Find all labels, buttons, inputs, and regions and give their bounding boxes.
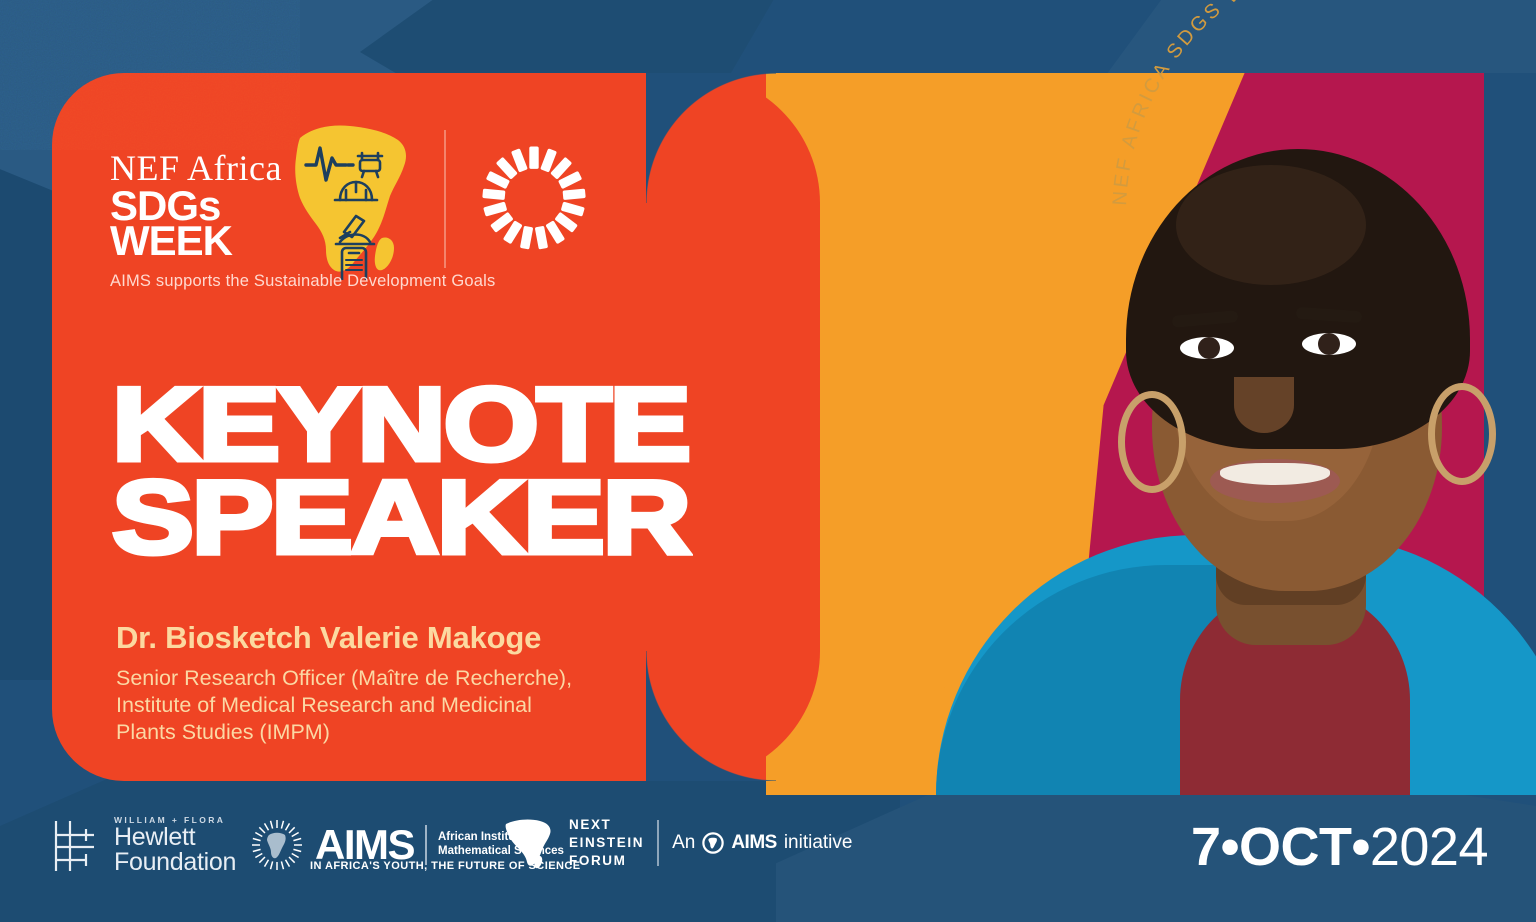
speaker-title-line-2: Institute of Medical Research and Medici… xyxy=(116,692,726,719)
sdg-support-tagline: AIMS supports the Sustainable Developmen… xyxy=(110,272,495,291)
page-title: KEYNOTE SPEAKER xyxy=(112,382,601,563)
nef-africa-silhouette-icon xyxy=(500,816,556,870)
logo-divider xyxy=(444,130,446,268)
speaker-portrait xyxy=(966,91,1536,795)
aims-initiative-label: An AIMS initiative xyxy=(672,832,852,854)
hewlett-foundation-logo-icon xyxy=(48,817,100,875)
portrait-nose xyxy=(1234,377,1294,433)
speaker-title: Senior Research Officer (Maître de Reche… xyxy=(116,665,726,746)
headline-line-2: SPEAKER xyxy=(112,475,689,562)
portrait-earring xyxy=(1428,383,1496,485)
nef-line-1: NEXT xyxy=(569,816,644,834)
portrait-hair-highlight xyxy=(1176,165,1366,285)
aims-wordmark: AIMS xyxy=(315,826,414,864)
nef-wordmark: NEF Africa SDGs WEEK xyxy=(110,152,282,260)
red-card-notch-top xyxy=(646,73,776,203)
event-date: 7•OCT•2024 xyxy=(1191,816,1488,878)
hewlett-wordmark: WILLIAM + FLORA Hewlett Foundation xyxy=(114,816,236,876)
speaker-title-line-1: Senior Research Officer (Maître de Reche… xyxy=(116,665,726,692)
next-einstein-forum-logo: NEXT EINSTEIN FORUM An AIMS initiative xyxy=(500,816,852,870)
portrait-mouth xyxy=(1210,459,1340,503)
nef-line-2: EINSTEIN xyxy=(569,834,644,852)
headline-line-1: KEYNOTE xyxy=(112,382,689,469)
sdg-wheel-icon xyxy=(478,142,590,254)
portrait-pupil xyxy=(1198,337,1220,359)
initiative-suffix: initiative xyxy=(784,832,853,854)
portrait-earring xyxy=(1118,391,1186,493)
nef-line-3: FORUM xyxy=(569,852,644,870)
nef-divider xyxy=(657,820,659,866)
hewlett-line-2: Foundation xyxy=(114,850,236,876)
aims-divider xyxy=(425,825,427,865)
speaker-info: Dr. Biosketch Valerie Makoge Senior Rese… xyxy=(116,620,726,746)
aims-circular-logo-icon xyxy=(702,832,724,854)
speaker-photo-panel xyxy=(766,73,1536,795)
speaker-title-line-3: Plants Studies (IMPM) xyxy=(116,719,726,746)
event-date-day: 7•OCT• xyxy=(1191,817,1370,877)
speaker-name: Dr. Biosketch Valerie Makoge xyxy=(116,620,726,656)
brand-line-1: NEF Africa xyxy=(110,152,282,185)
portrait-pupil xyxy=(1318,333,1340,355)
footer-bar: WILLIAM + FLORA Hewlett Foundation xyxy=(0,794,1536,922)
portrait-teeth xyxy=(1220,463,1330,485)
nef-wordmark-footer: NEXT EINSTEIN FORUM xyxy=(569,816,644,870)
hewlett-foundation-logo: WILLIAM + FLORA Hewlett Foundation xyxy=(48,816,236,876)
initiative-brand: AIMS xyxy=(731,832,777,854)
event-date-year: 2024 xyxy=(1370,817,1488,877)
hewlett-line-1: Hewlett xyxy=(114,825,236,851)
poster-canvas: NEF Africa SDGs WEEK xyxy=(0,0,1536,922)
africa-map-icon xyxy=(278,120,428,280)
aims-circular-logo-icon xyxy=(250,818,304,872)
brand-line-3: WEEK xyxy=(110,222,282,261)
initiative-prefix: An xyxy=(672,832,695,854)
